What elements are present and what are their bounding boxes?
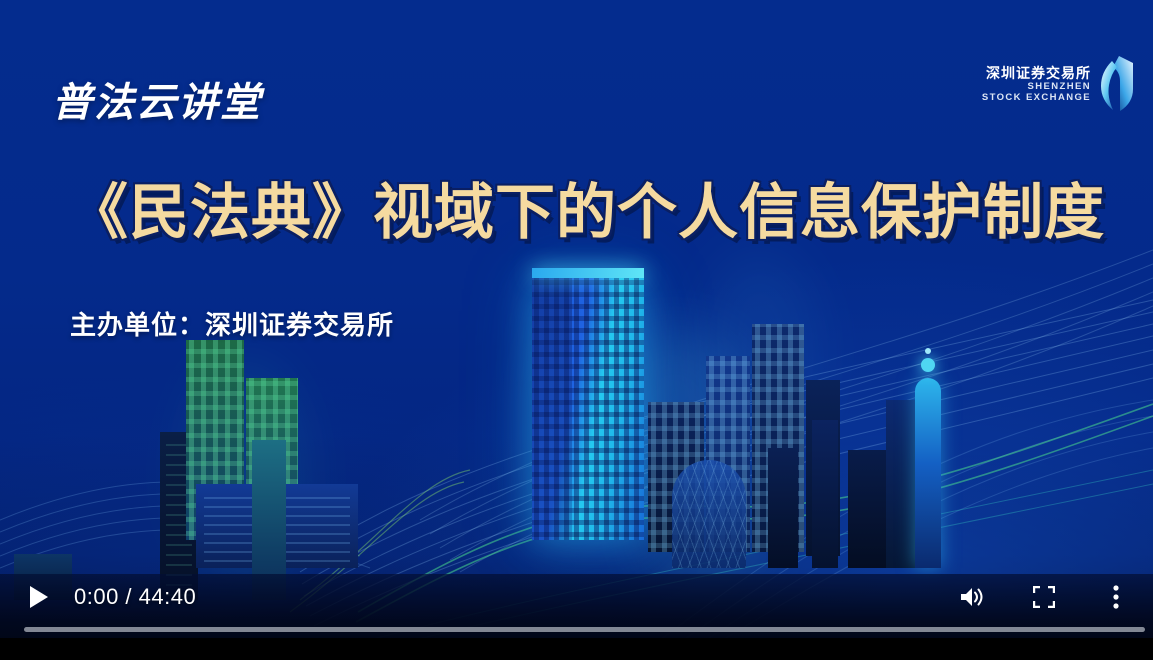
play-icon [30,586,48,608]
fullscreen-icon [1033,586,1055,608]
more-options-button[interactable] [1093,574,1139,620]
time-display: 0:00 / 44:40 [74,584,196,610]
more-vertical-icon [1113,585,1119,609]
video-player[interactable]: 普法云讲堂 深圳证券交易所 SHENZHEN STOCK EXCHANGE [0,0,1153,660]
building [812,420,838,568]
play-button[interactable] [18,576,60,618]
player-controls: ⛭ 0:00 / 44:40 [0,568,1153,660]
program-brand-title: 普法云讲堂 [52,70,262,128]
page-title: 《民法典》视域下的个人信息保护制度 [68,178,1105,248]
volume-high-icon [959,586,985,608]
volume-button[interactable] [949,574,995,620]
sse-logo-en-line1: SHENZHEN [982,81,1091,92]
spire-beacon [921,358,935,372]
fullscreen-button[interactable] [1021,574,1067,620]
sse-logo-cn-name: 深圳证券交易所 [982,65,1091,82]
progress-bar[interactable] [24,627,1145,632]
spire-tower [915,378,941,568]
sse-logo: 深圳证券交易所 SHENZHEN STOCK EXCHANGE [982,55,1135,113]
hero-tower-roof [532,268,644,278]
building [768,448,798,568]
spire-antenna-dot [925,348,931,354]
player-bottom-bar [0,638,1153,660]
sse-logo-en-line2: STOCK EXCHANGE [982,92,1091,103]
shenzhen-stock-exchange-mark-icon [1099,55,1135,113]
hero-tower-shadow-face [532,278,572,540]
organizer-line: 主办单位：深圳证券交易所 [70,305,394,342]
dome-structure [672,460,746,568]
video-poster: 普法云讲堂 深圳证券交易所 SHENZHEN STOCK EXCHANGE [0,0,1153,660]
building [848,450,886,568]
building [886,400,916,568]
